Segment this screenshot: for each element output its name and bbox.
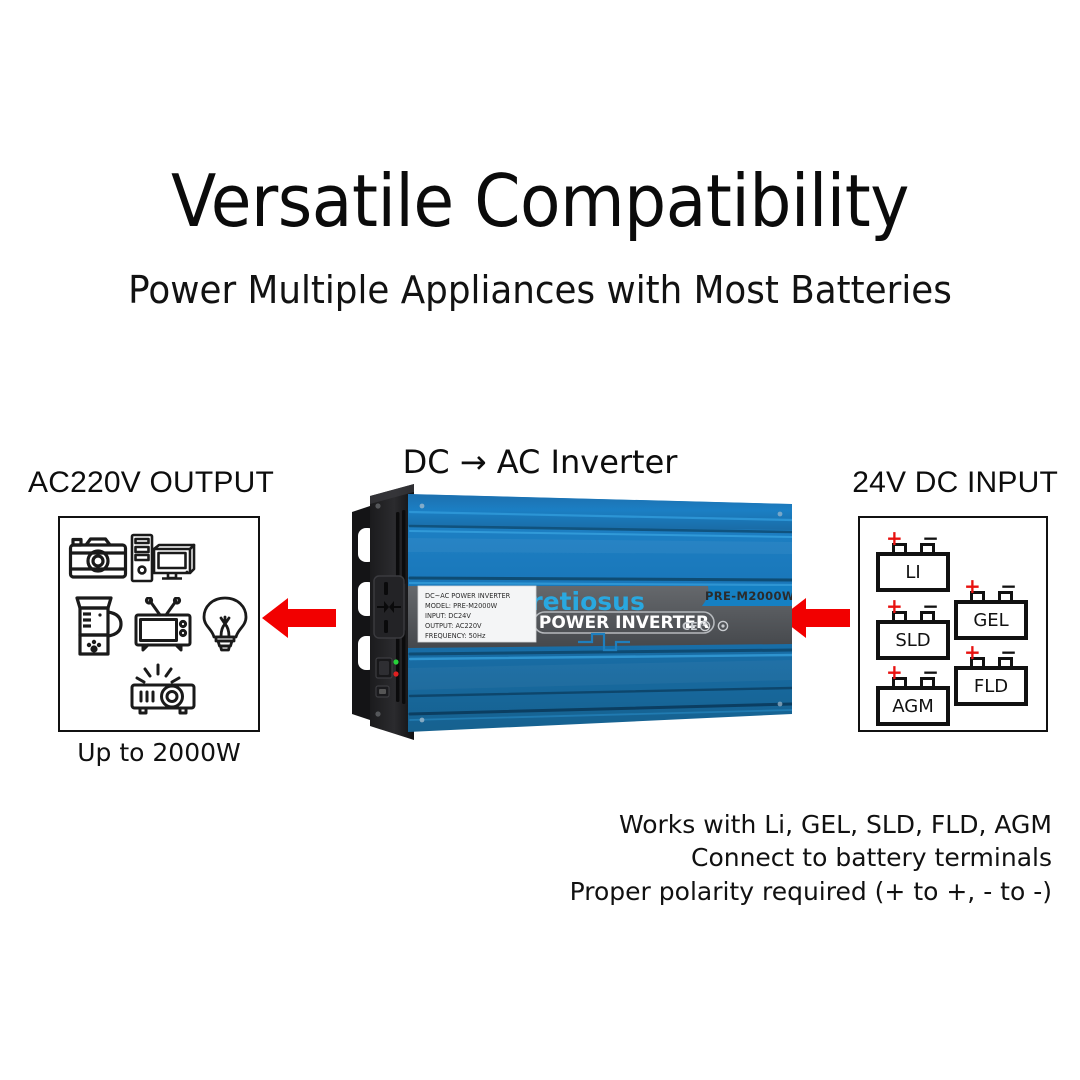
battery-terminals: + −: [876, 530, 950, 552]
plus-terminal-sign: +: [964, 642, 981, 662]
page-subtitle: Power Multiple Appliances with Most Batt…: [32, 268, 1047, 312]
battery-type-label: GEL: [954, 600, 1028, 640]
appliance-icon-grid: [68, 526, 252, 724]
minus-terminal-sign: −: [1000, 642, 1017, 662]
battery-terminals: + −: [876, 598, 950, 620]
battery-terminals: + −: [954, 578, 1028, 600]
page-title: Versatile Compatibility: [43, 164, 1037, 240]
note-line-1: Works with Li, GEL, SLD, FLD, AGM: [412, 808, 1052, 841]
battery-agm: + − AGM: [876, 664, 950, 726]
minus-terminal-sign: −: [1000, 576, 1017, 596]
plus-terminal-sign: +: [886, 596, 903, 616]
output-flow-arrow-icon: [262, 596, 336, 645]
model-badge-text: PRE-M2000W: [705, 589, 792, 603]
battery-sld: + − SLD: [876, 598, 950, 660]
battery-panel: + − LI + − GEL + − SLD: [858, 516, 1048, 732]
svg-text:CE: CE: [682, 620, 698, 633]
spec-line-1: DC~AC POWER INVERTER: [425, 592, 511, 600]
inverter-body: PRE-M2000W Pretiosus POWER INVERTER CE: [408, 494, 792, 732]
battery-type-label: SLD: [876, 620, 950, 660]
spec-label: DC~AC POWER INVERTER MODEL: PRE-M2000W I…: [418, 586, 536, 642]
camera-icon: [68, 535, 128, 583]
minus-terminal-sign: −: [922, 528, 939, 548]
battery-gel: + − GEL: [954, 578, 1028, 640]
battery-type-label: AGM: [876, 686, 950, 726]
inverter-front-panel: [370, 484, 414, 740]
battery-type-label: FLD: [954, 666, 1028, 706]
spec-line-5: FREQUENCY: 50Hz: [425, 632, 486, 640]
battery-li: + − LI: [876, 530, 950, 592]
bulb-icon: [201, 595, 249, 655]
minus-terminal-sign: −: [922, 596, 939, 616]
output-caption: Up to 2000W: [58, 738, 260, 767]
battery-terminals: + −: [876, 664, 950, 686]
spec-line-4: OUTPUT: AC220V: [425, 622, 482, 630]
plus-terminal-sign: +: [964, 576, 981, 596]
dc-input-terminal: [376, 686, 389, 697]
plus-terminal-sign: +: [886, 528, 903, 548]
battery-notes: Works with Li, GEL, SLD, FLD, AGM Connec…: [412, 808, 1052, 908]
spec-line-2: MODEL: PRE-M2000W: [425, 602, 498, 610]
battery-fld: + − FLD: [954, 644, 1028, 706]
blender-icon: [70, 592, 126, 658]
note-line-3: Proper polarity required (+ to +, - to -…: [412, 875, 1052, 908]
computer-icon: [130, 532, 196, 586]
input-section-heading: 24V DC INPUT: [852, 466, 1058, 500]
ac-output-socket: [374, 576, 404, 638]
appliance-panel: [58, 516, 260, 732]
projector-icon: [128, 663, 198, 719]
infographic-page: Versatile Compatibility Power Multiple A…: [0, 0, 1080, 1080]
power-inverter-device: PRE-M2000W Pretiosus POWER INVERTER CE: [330, 482, 792, 744]
minus-terminal-sign: −: [922, 662, 939, 682]
spec-line-3: INPUT: DC24V: [425, 612, 471, 620]
note-line-2: Connect to battery terminals: [412, 841, 1052, 874]
tv-icon: [132, 597, 194, 653]
battery-terminals: + −: [954, 644, 1028, 666]
plus-terminal-sign: +: [886, 662, 903, 682]
battery-type-label: LI: [876, 552, 950, 592]
